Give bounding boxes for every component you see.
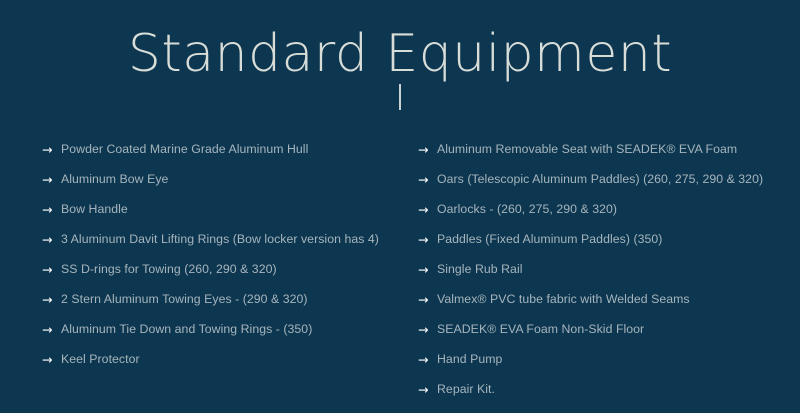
list-item: →Single Rub Rail: [418, 262, 790, 278]
list-item: →Repair Kit.: [418, 382, 790, 398]
list-item: →Paddles (Fixed Aluminum Paddles) (350): [418, 232, 790, 248]
list-item: →2 Stern Aluminum Towing Eyes - (290 & 3…: [42, 292, 386, 308]
arrow-right-icon: →: [42, 172, 56, 188]
arrow-right-icon: →: [418, 172, 432, 188]
list-item-label: Paddles (Fixed Aluminum Paddles) (350): [437, 232, 790, 248]
title-block: Standard Equipment |: [0, 0, 800, 110]
list-item: →Aluminum Tie Down and Towing Rings - (3…: [42, 322, 386, 338]
list-item: →Valmex® PVC tube fabric with Welded Sea…: [418, 292, 790, 308]
list-item: →Oarlocks - (260, 275, 290 & 320): [418, 202, 790, 218]
left-equipment-list: →Powder Coated Marine Grade Aluminum Hul…: [42, 142, 386, 368]
arrow-right-icon: →: [418, 382, 432, 398]
list-item-label: Keel Protector: [61, 352, 386, 368]
page-title: Standard Equipment: [0, 26, 800, 82]
list-item-label: 3 Aluminum Davit Lifting Rings (Bow lock…: [61, 232, 386, 248]
arrow-right-icon: →: [42, 292, 56, 308]
list-item-label: Aluminum Tie Down and Towing Rings - (35…: [61, 322, 386, 338]
arrow-right-icon: →: [42, 262, 56, 278]
arrow-right-icon: →: [418, 142, 432, 158]
left-equipment-column: →Powder Coated Marine Grade Aluminum Hul…: [0, 142, 400, 368]
arrow-right-icon: →: [418, 322, 432, 338]
arrow-right-icon: →: [42, 232, 56, 248]
arrow-right-icon: →: [418, 352, 432, 368]
list-item: →Aluminum Removable Seat with SEADEK® EV…: [418, 142, 790, 158]
arrow-right-icon: →: [418, 202, 432, 218]
list-item-label: SEADEK® EVA Foam Non-Skid Floor: [437, 322, 790, 338]
arrow-right-icon: →: [42, 202, 56, 218]
list-item-label: Hand Pump: [437, 352, 790, 368]
list-item-label: Aluminum Bow Eye: [61, 172, 386, 188]
arrow-right-icon: →: [42, 352, 56, 368]
list-item-label: Powder Coated Marine Grade Aluminum Hull: [61, 142, 386, 158]
list-item: →SS D-rings for Towing (260, 290 & 320): [42, 262, 386, 278]
equipment-columns: →Powder Coated Marine Grade Aluminum Hul…: [0, 142, 800, 398]
list-item: →Powder Coated Marine Grade Aluminum Hul…: [42, 142, 386, 158]
text-caret: [399, 84, 401, 110]
list-item-label: Valmex® PVC tube fabric with Welded Seam…: [437, 292, 790, 308]
list-item: →Aluminum Bow Eye: [42, 172, 386, 188]
list-item-label: Oarlocks - (260, 275, 290 & 320): [437, 202, 790, 218]
arrow-right-icon: →: [42, 322, 56, 338]
list-item-label: SS D-rings for Towing (260, 290 & 320): [61, 262, 386, 278]
list-item-label: 2 Stern Aluminum Towing Eyes - (290 & 32…: [61, 292, 386, 308]
list-item-label: Repair Kit.: [437, 382, 790, 398]
arrow-right-icon: →: [42, 142, 56, 158]
list-item-label: Single Rub Rail: [437, 262, 790, 278]
right-equipment-column: →Aluminum Removable Seat with SEADEK® EV…: [400, 142, 800, 398]
list-item-label: Bow Handle: [61, 202, 386, 218]
list-item: →3 Aluminum Davit Lifting Rings (Bow loc…: [42, 232, 386, 248]
arrow-right-icon: →: [418, 262, 432, 278]
list-item: →SEADEK® EVA Foam Non-Skid Floor: [418, 322, 790, 338]
list-item: →Hand Pump: [418, 352, 790, 368]
arrow-right-icon: →: [418, 232, 432, 248]
arrow-right-icon: →: [418, 292, 432, 308]
right-equipment-list: →Aluminum Removable Seat with SEADEK® EV…: [418, 142, 790, 398]
list-item-label: Aluminum Removable Seat with SEADEK® EVA…: [437, 142, 790, 158]
list-item: →Oars (Telescopic Aluminum Paddles) (260…: [418, 172, 790, 188]
list-item: →Bow Handle: [42, 202, 386, 218]
list-item-label: Oars (Telescopic Aluminum Paddles) (260,…: [437, 172, 790, 188]
standard-equipment-page: Standard Equipment | →Powder Coated Mari…: [0, 0, 800, 413]
list-item: →Keel Protector: [42, 352, 386, 368]
